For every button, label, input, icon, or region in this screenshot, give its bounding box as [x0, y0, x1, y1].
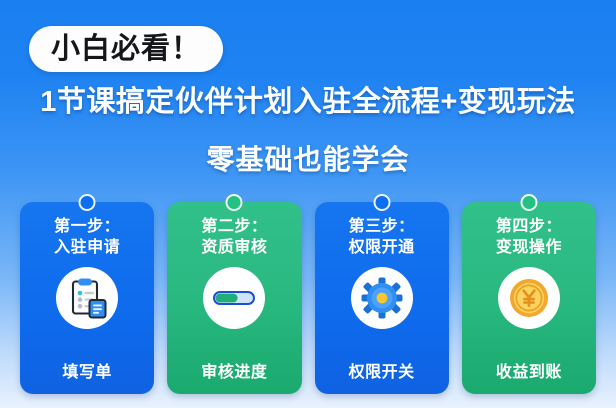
step-card-2-step-label: 第二步：: [201, 217, 267, 237]
step-card-1-title: 入驻申请: [54, 238, 120, 258]
attention-badge: 小白必看！: [29, 26, 223, 72]
step-marker-dot-icon: [520, 194, 537, 211]
step-card-4-title: 变现操作: [496, 238, 562, 258]
step-card-1-caption: 填写单: [20, 365, 154, 381]
step-card-4[interactable]: 第四步： 变现操作 收益到账: [462, 202, 596, 394]
yuan-coin-icon: [498, 267, 560, 329]
step-card-4-step-label: 第四步：: [496, 217, 562, 237]
attention-badge-label: 小白必看！: [51, 35, 201, 64]
clipboard-checklist-icon: [56, 267, 118, 329]
step-marker-dot-icon: [79, 194, 96, 211]
step-card-2[interactable]: 第二步： 资质审核 审核进度: [167, 202, 301, 394]
step-card-3-step-label: 第三步：: [349, 217, 415, 237]
step-card-2-caption: 审核进度: [167, 365, 301, 381]
step-card-3-caption: 权限开关: [315, 365, 449, 381]
step-card-3[interactable]: 第三步： 权限开通: [315, 202, 449, 394]
step-card-1-step-label: 第一步：: [54, 217, 120, 237]
step-card-4-caption: 收益到账: [462, 365, 596, 381]
subheadline: 零基础也能学会: [0, 146, 616, 174]
step-cards: 第一步： 入驻申请 填写单: [20, 202, 596, 394]
step-marker-dot-icon: [373, 194, 390, 211]
poster-header: 小白必看！ 1节课搞定伙伴计划入驻全流程+变现玩法 零基础也能学会: [0, 0, 616, 196]
step-card-2-title: 资质审核: [201, 238, 267, 258]
headline: 1节课搞定伙伴计划入驻全流程+变现玩法: [0, 88, 616, 117]
step-marker-dot-icon: [226, 194, 243, 211]
gear-icon: [351, 267, 413, 329]
step-card-3-title: 权限开通: [349, 238, 415, 258]
promo-poster: 小白必看！ 1节课搞定伙伴计划入驻全流程+变现玩法 零基础也能学会 第一步： 入…: [0, 0, 616, 408]
step-card-1[interactable]: 第一步： 入驻申请 填写单: [20, 202, 154, 394]
progress-bar-icon: [203, 267, 265, 329]
